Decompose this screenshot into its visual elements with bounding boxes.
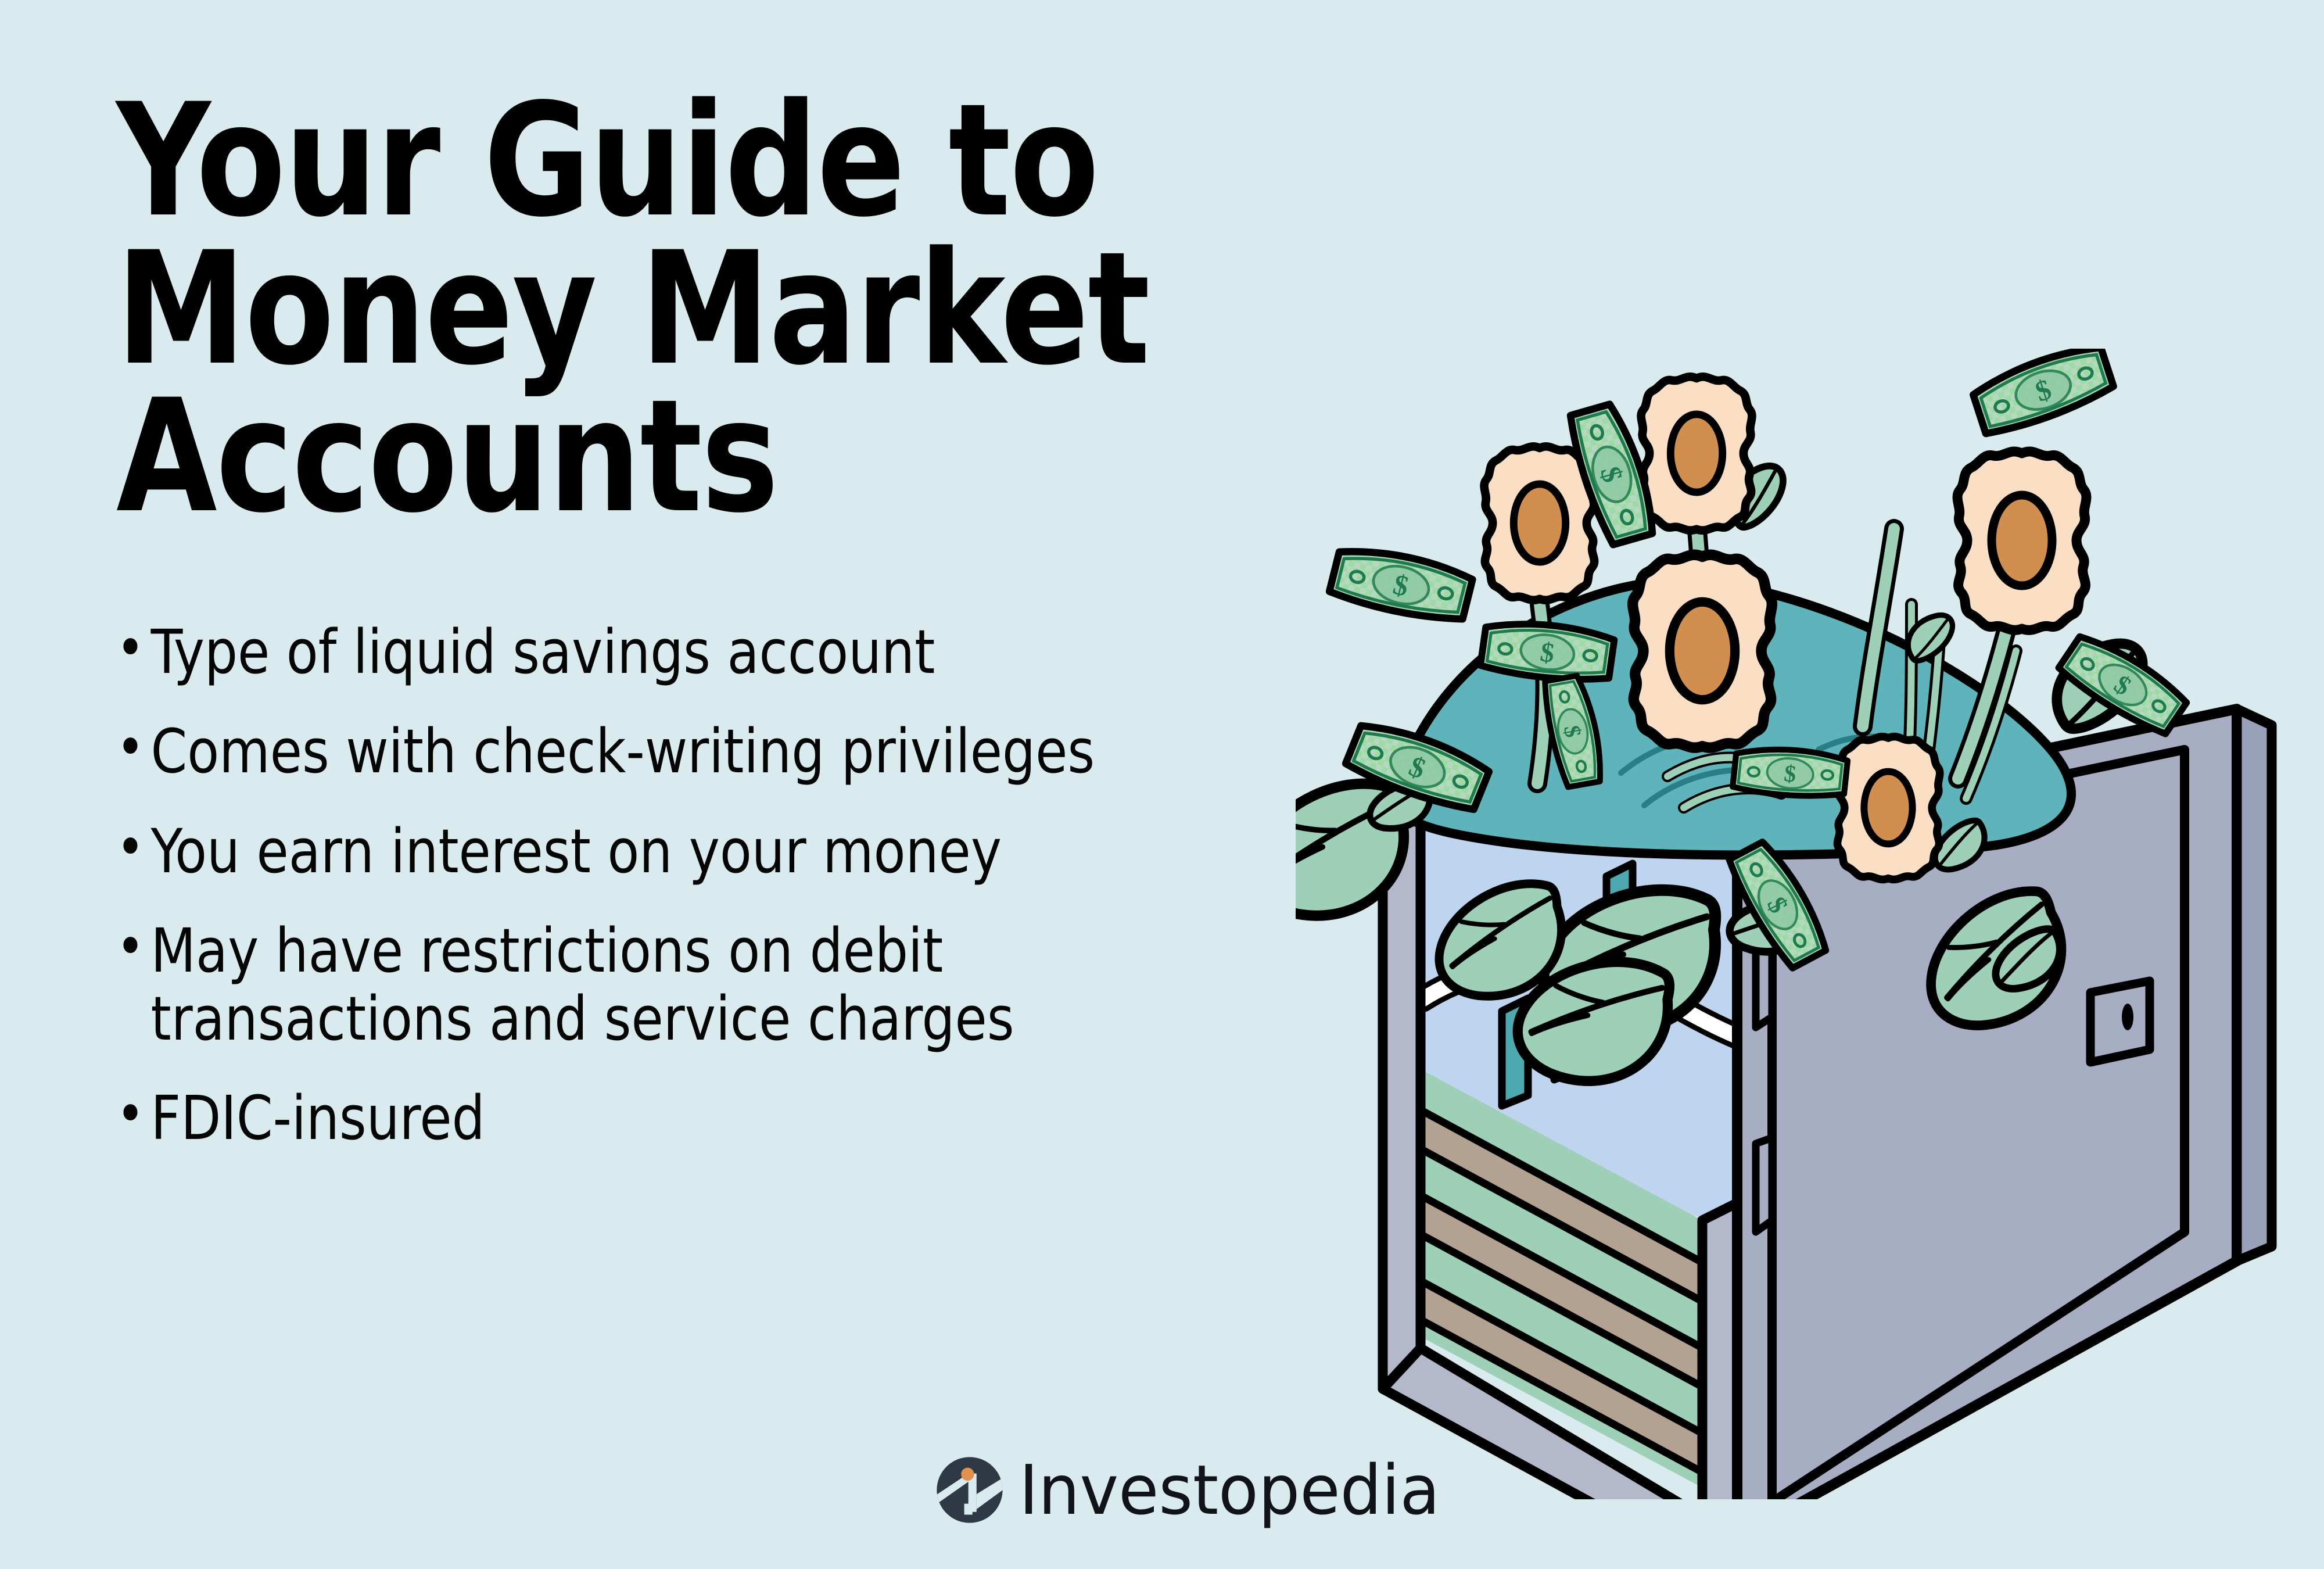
vault-hinge-bottom (1756, 1138, 1772, 1232)
flower-lower (1837, 737, 1940, 880)
flower-left (1484, 446, 1595, 600)
investopedia-mark-icon (935, 1456, 1004, 1524)
list-item: May have restrictions on debit transacti… (116, 917, 1127, 1052)
flower-top (1641, 377, 1752, 530)
page-title: Your Guide to Money Market Accounts (116, 87, 1251, 531)
text-column: Your Guide to Money Market Accounts Type… (116, 87, 1336, 1184)
flower-right (1957, 452, 2086, 630)
list-item: FDIC-insured (116, 1084, 1127, 1152)
vault-money-flowers-illustration: $ (1296, 349, 2324, 1499)
list-item: You earn interest on your money (116, 818, 1127, 885)
vault-lock-plate (2090, 981, 2150, 1062)
bill-upper-left (1329, 540, 1474, 628)
vault-right-edge (2237, 709, 2272, 1261)
list-item: Comes with check-writing privileges (116, 718, 1127, 785)
keyhole-icon (2122, 1004, 2133, 1030)
bullet-list: Type of liquid savings account Comes wit… (116, 618, 1336, 1152)
flower-center (1633, 555, 1772, 748)
list-item: Type of liquid savings account (116, 618, 1127, 686)
infographic-canvas: Your Guide to Money Market Accounts Type… (0, 0, 2324, 1569)
bill-top-right (1970, 349, 2116, 437)
